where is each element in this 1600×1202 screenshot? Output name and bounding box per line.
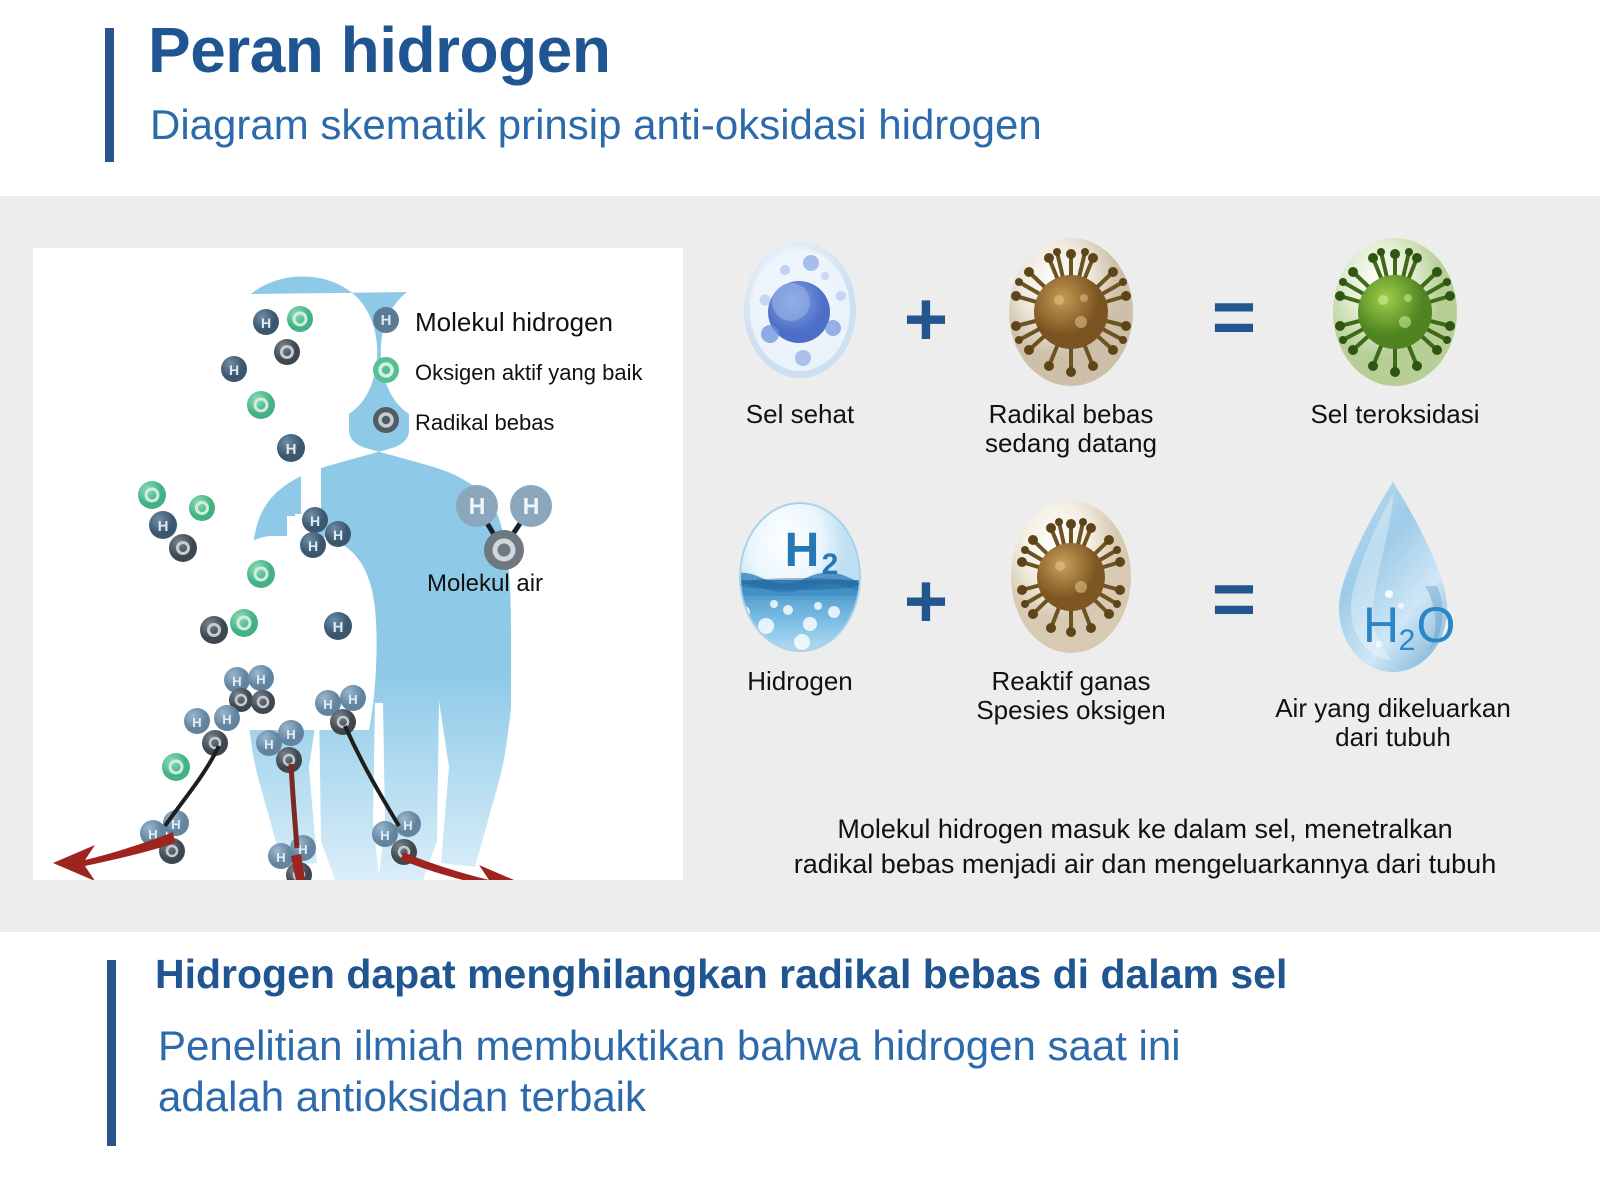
water-cluster: H H: [184, 705, 240, 756]
svg-text:H: H: [333, 619, 344, 636]
svg-text:H: H: [523, 493, 540, 519]
arrow-left: [53, 832, 175, 880]
reaction-diagrams: Sel sehat +: [700, 230, 1580, 792]
hydrogen-atom-right: H: [510, 485, 552, 527]
page-title: Peran hidrogen: [148, 18, 610, 82]
reaction-row-neutralization: H 2 Hidrogen +: [700, 492, 1580, 792]
hydrogen-sphere-icon: H 2: [700, 492, 900, 667]
molecule-radical: [169, 534, 197, 562]
molecule-o2: [162, 753, 190, 781]
molecule-radical: [200, 616, 228, 644]
water-droplet-icon: H 2 O: [1248, 474, 1538, 694]
svg-text:2: 2: [821, 548, 838, 581]
svg-text:H: H: [348, 692, 357, 707]
svg-text:H: H: [171, 817, 180, 832]
footnote-line: radikal bebas menjadi air dan mengeluark…: [700, 847, 1590, 882]
oxidized-cell-caption: Sel teroksidasi: [1270, 400, 1520, 429]
svg-text:H: H: [192, 715, 201, 730]
reactive-oxygen-species-icon: [956, 492, 1186, 667]
legend-item-free-radical: Radikal bebas: [371, 405, 671, 440]
legend: H Molekul hidrogen Oksigen aktif yang ba…: [371, 305, 671, 455]
healthy-cell-item: Sel sehat: [700, 230, 900, 429]
caption-line: Radikal bebas: [956, 400, 1186, 429]
reactive-oxygen-species-item: Reaktif ganas Spesies oksigen: [956, 492, 1186, 725]
molecule-h: H: [149, 511, 177, 539]
molecule-o2: [287, 306, 313, 332]
legend-label: Radikal bebas: [415, 410, 554, 436]
legend-item-active-oxygen: Oksigen aktif yang baik: [371, 355, 671, 390]
healthy-cell-icon: [700, 230, 900, 400]
molecule-h: H: [253, 309, 279, 335]
infographic-page: Peran hidrogen Diagram skematik prinsip …: [0, 0, 1600, 1202]
reaction-row-oxidation: Sel sehat +: [700, 230, 1580, 480]
svg-text:O: O: [1417, 597, 1456, 653]
human-body-diagram-card: H H H H H H H H: [33, 248, 683, 880]
svg-text:H: H: [222, 712, 231, 727]
h2-label: H: [784, 524, 819, 577]
plus-operator: +: [896, 564, 956, 640]
conclusion-section: Hidrogen dapat menghilangkan radikal beb…: [0, 932, 1600, 1202]
water-droplet-caption: Air yang dikeluarkan dari tubuh: [1248, 694, 1538, 752]
healthy-cell-caption: Sel sehat: [700, 400, 900, 429]
svg-text:H: H: [158, 518, 169, 535]
molecule-h: H: [300, 532, 326, 558]
svg-text:H: H: [380, 828, 389, 843]
free-radical-icon: [371, 405, 401, 440]
h2o-label: H: [1363, 597, 1399, 653]
svg-text:2: 2: [1399, 624, 1416, 657]
svg-text:H: H: [286, 441, 297, 458]
free-radical-caption: Radikal bebas sedang datang: [956, 400, 1186, 458]
caption-line: dari tubuh: [1248, 723, 1538, 752]
molecule-o2: [247, 391, 275, 419]
reaction-footnote: Molekul hidrogen masuk ke dalam sel, men…: [700, 812, 1590, 881]
header: Peran hidrogen Diagram skematik prinsip …: [0, 0, 1600, 196]
svg-text:H: H: [276, 850, 285, 865]
molecule-h: H: [221, 356, 247, 382]
svg-text:H: H: [310, 513, 320, 529]
svg-text:H: H: [323, 697, 332, 712]
svg-text:H: H: [469, 493, 486, 519]
molecule-radical: [274, 339, 300, 365]
water-droplet-item: H 2 O Air yang dikeluarkan dari tubuh: [1248, 474, 1538, 752]
free-radical-icon: [956, 230, 1186, 400]
conclusion-body-line: adalah antioksidan terbaik: [158, 1071, 1458, 1122]
conclusion-headline: Hidrogen dapat menghilangkan radikal beb…: [155, 952, 1287, 997]
page-subtitle: Diagram skematik prinsip anti-oksidasi h…: [150, 103, 1042, 147]
caption-line: Spesies oksigen: [956, 696, 1186, 725]
water-molecule-label: Molekul air: [427, 570, 543, 598]
molecule-h: H: [324, 612, 352, 640]
molecule-o2: [189, 495, 215, 521]
caption-line: Reaktif ganas: [956, 667, 1186, 696]
svg-text:H: H: [286, 727, 295, 742]
svg-text:H: H: [229, 362, 239, 378]
good-active-oxygen-icon: [371, 355, 401, 390]
header-accent-bar: [105, 28, 114, 162]
free-radical-item: Radikal bebas sedang datang: [956, 230, 1186, 458]
svg-text:H: H: [403, 818, 412, 833]
reactive-oxygen-species-caption: Reaktif ganas Spesies oksigen: [956, 667, 1186, 725]
plus-operator: +: [896, 282, 956, 358]
hydrogen-atom-left: H: [456, 485, 498, 527]
conclusion-body: Penelitian ilmiah membuktikan bahwa hidr…: [158, 1020, 1458, 1122]
legend-item-hydrogen: H Molekul hidrogen: [371, 305, 671, 340]
svg-text:H: H: [232, 674, 241, 689]
caption-line: Air yang dikeluarkan: [1248, 694, 1538, 723]
svg-text:H: H: [333, 527, 343, 543]
svg-text:H: H: [381, 312, 392, 329]
oxidized-cell-icon: [1270, 230, 1520, 400]
legend-label: Oksigen aktif yang baik: [415, 360, 642, 386]
hydrogen-item: H 2 Hidrogen: [700, 492, 900, 696]
oxidized-cell-item: Sel teroksidasi: [1270, 230, 1520, 429]
hydrogen-molecule-icon: H: [371, 305, 401, 340]
molecule-o2: [247, 560, 275, 588]
caption-line: sedang datang: [956, 429, 1186, 458]
hydrogen-caption: Hidrogen: [700, 667, 900, 696]
molecule-h: H: [325, 521, 351, 547]
molecule-o2: [138, 481, 166, 509]
oxygen-atom: [484, 530, 524, 570]
footnote-line: Molekul hidrogen masuk ke dalam sel, men…: [700, 812, 1590, 847]
equals-operator: =: [1194, 280, 1274, 356]
molecule-o2: [230, 609, 258, 637]
svg-text:H: H: [264, 737, 273, 752]
molecule-h: H: [277, 434, 305, 462]
legend-label: Molekul hidrogen: [415, 307, 613, 338]
conclusion-body-line: Penelitian ilmiah membuktikan bahwa hidr…: [158, 1020, 1458, 1071]
svg-text:H: H: [256, 672, 265, 687]
svg-text:H: H: [261, 315, 271, 331]
water-molecule-diagram: H H: [433, 476, 623, 581]
molecule-h: H: [302, 507, 328, 533]
svg-text:H: H: [308, 538, 318, 554]
conclusion-accent-bar: [107, 960, 116, 1146]
